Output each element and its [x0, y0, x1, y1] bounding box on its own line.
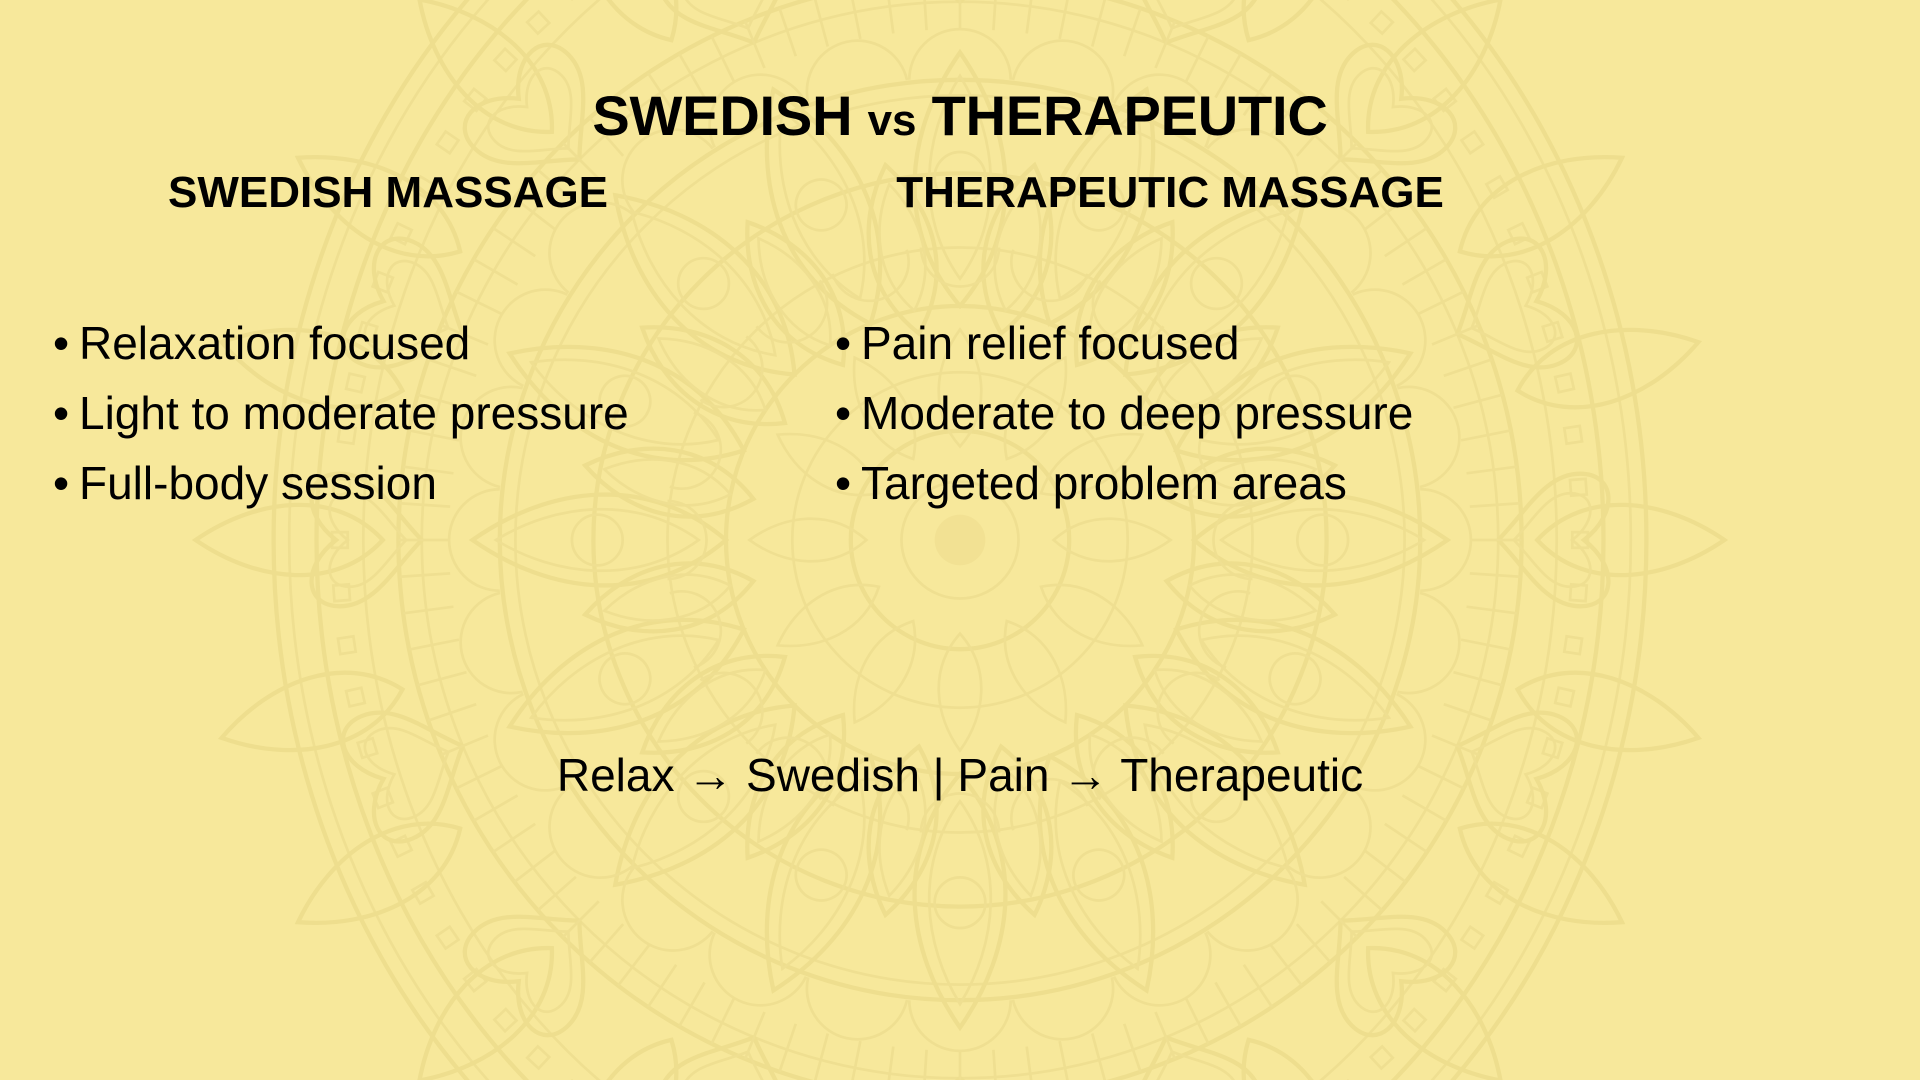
slide-canvas: SWEDISH vs THERAPEUTIC SWEDISH MASSAGE •… [0, 0, 1920, 1080]
bullet-dot-icon: • [53, 308, 79, 378]
list-item-label: Light to moderate pressure [79, 387, 629, 439]
bullet-dot-icon: • [53, 448, 79, 518]
column-therapeutic: THERAPEUTIC MASSAGE •Pain relief focused… [790, 168, 1550, 219]
list-item: •Relaxation focused [53, 308, 768, 378]
list-item: •Targeted problem areas [835, 448, 1550, 518]
list-item-label: Relaxation focused [79, 317, 470, 369]
summary-tagline: Relax → Swedish | Pain → Therapeutic [0, 748, 1920, 802]
list-item: •Pain relief focused [835, 308, 1550, 378]
bullet-dot-icon: • [835, 378, 861, 448]
bullet-dot-icon: • [53, 378, 79, 448]
slide-content: SWEDISH vs THERAPEUTIC SWEDISH MASSAGE •… [0, 0, 1920, 1080]
list-item: •Full-body session [53, 448, 768, 518]
list-item-label: Moderate to deep pressure [861, 387, 1413, 439]
title-prefix: SWEDISH [592, 84, 852, 147]
list-item: •Moderate to deep pressure [835, 378, 1550, 448]
list-item: •Light to moderate pressure [53, 378, 768, 448]
column-swedish: SWEDISH MASSAGE •Relaxation focused •Lig… [8, 168, 768, 219]
bullet-list-swedish: •Relaxation focused •Light to moderate p… [8, 308, 768, 518]
bullet-dot-icon: • [835, 448, 861, 518]
bullet-dot-icon: • [835, 308, 861, 378]
list-item-label: Pain relief focused [861, 317, 1239, 369]
title-vs-word: vs [868, 96, 917, 145]
title-suffix: THERAPEUTIC [932, 84, 1328, 147]
list-item-label: Targeted problem areas [861, 457, 1347, 509]
list-item-label: Full-body session [79, 457, 437, 509]
page-title: SWEDISH vs THERAPEUTIC [0, 85, 1920, 147]
column-heading-swedish: SWEDISH MASSAGE [8, 168, 768, 219]
bullet-list-therapeutic: •Pain relief focused •Moderate to deep p… [790, 308, 1550, 518]
column-heading-therapeutic: THERAPEUTIC MASSAGE [790, 168, 1550, 219]
